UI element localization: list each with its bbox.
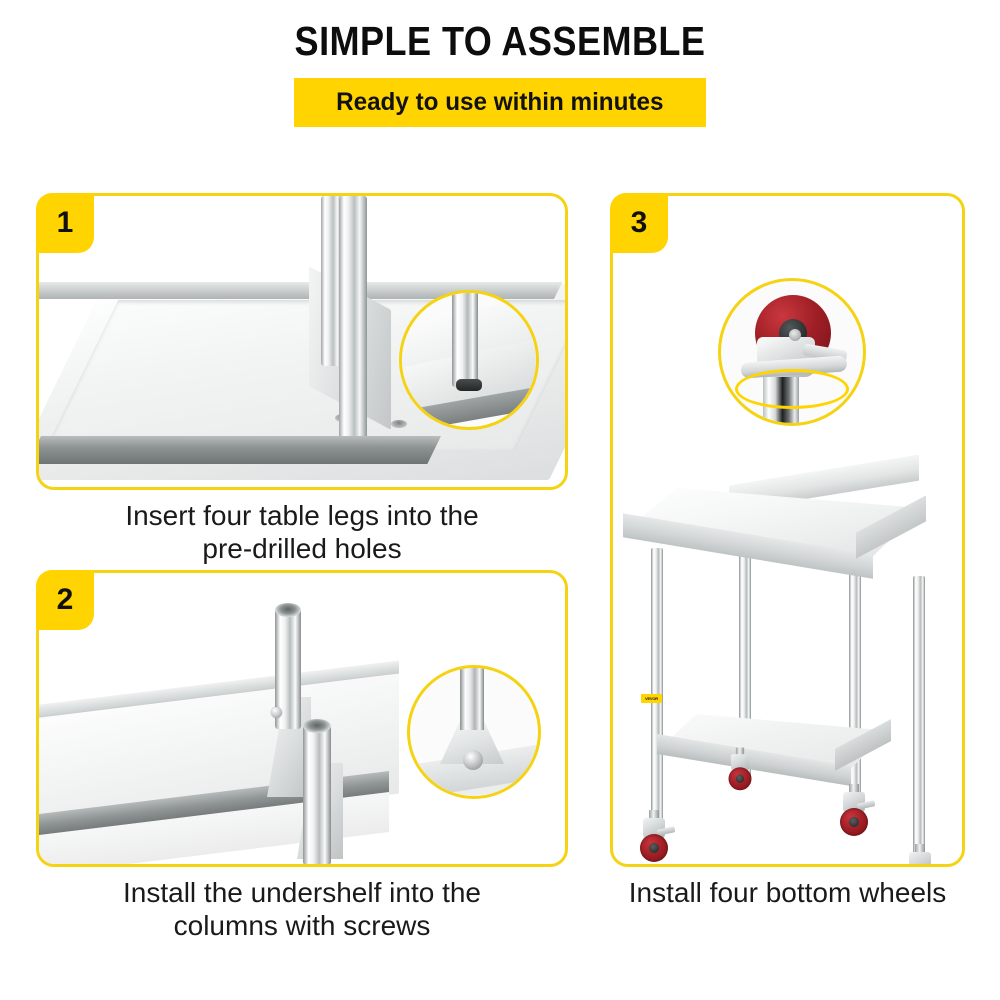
caster-wheel-rear-left [726, 754, 754, 792]
step-2-detail-inset [407, 665, 541, 799]
detail-bolt [456, 379, 482, 391]
header: SIMPLE TO ASSEMBLE Ready to use within m… [0, 0, 1000, 140]
column-screw [271, 707, 282, 718]
caster-hub [649, 843, 659, 853]
step-panel-3: VEVOR [610, 193, 965, 867]
step-panel-1: 1 [36, 193, 568, 490]
tube-open-end [303, 719, 331, 733]
column-tube-front [303, 725, 331, 864]
step-3-photo: VEVOR [613, 196, 962, 864]
step-1-detail-inset [399, 290, 539, 430]
step-2-caption: Install the undershelf into the columns … [36, 876, 568, 942]
subtitle-band: Ready to use within minutes [294, 78, 706, 127]
tube-open-end [275, 603, 301, 617]
step-3-detail-inset [718, 278, 866, 426]
table-front-edge [39, 436, 441, 464]
caster-hub [736, 775, 744, 783]
page-title: SIMPLE TO ASSEMBLE [60, 18, 940, 65]
step-1-caption: Insert four table legs into the pre-dril… [36, 499, 568, 565]
step-badge-1: 1 [36, 193, 94, 253]
step-1-photo [39, 196, 565, 487]
brand-label: VEVOR [641, 694, 662, 703]
swivel-rotation-ring-icon [735, 369, 849, 409]
table-leg-pole [339, 196, 367, 448]
caster-wheel-front-right [903, 852, 937, 864]
step-badge-2: 2 [36, 570, 94, 630]
caster-wheel-rear-right [837, 792, 871, 838]
caster-hub [849, 817, 859, 827]
detail-wheel-hubcap [789, 329, 801, 341]
step-badge-3: 3 [610, 193, 668, 253]
column-screw-detail-art [410, 668, 538, 796]
caster-bracket [909, 852, 931, 864]
table-leg-front-right [913, 576, 925, 864]
caster-wheel-detail-art [721, 281, 863, 423]
subtitle-text: Ready to use within minutes [336, 88, 663, 117]
detail-column-tube [460, 665, 484, 730]
detail-leg-pole [452, 290, 478, 387]
step-panel-2: 2 [36, 570, 568, 867]
caster-wheel-front-left [637, 818, 671, 864]
step-3-caption: Install four bottom wheels [610, 876, 965, 909]
leg-bolt-detail-art [402, 293, 536, 427]
step-2-photo [39, 573, 565, 864]
assembled-table-art: VEVOR [613, 196, 962, 864]
detail-screw [463, 750, 483, 770]
